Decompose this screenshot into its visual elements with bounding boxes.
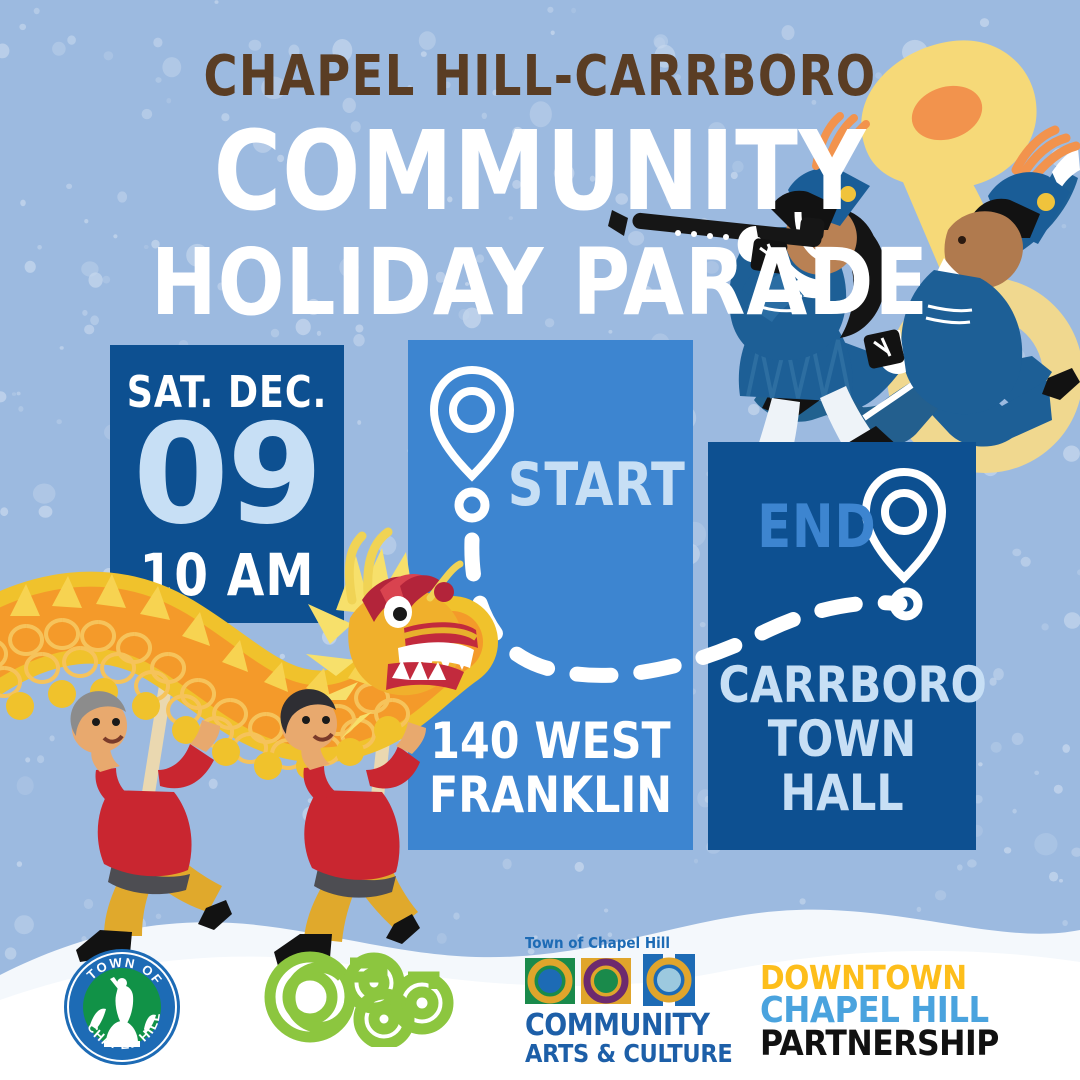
dragon-dancer [71, 691, 232, 962]
sponsor-logo-bar: TOWN OF CHAPEL HILL [0, 930, 1080, 1080]
logo-downtown-chapel-hill-partnership: DOWNTOWN CHAPEL HILL PARTNERSHIP [760, 962, 999, 1062]
logo-arts-tiles [525, 954, 697, 1006]
logo-community-arts-and-culture: Town of Chapel Hill COMMUNITY ARTS & CUL… [525, 936, 732, 1066]
logo-dchp-line3: PARTNERSHIP [760, 1028, 999, 1062]
logo-town-of-chapel-hill: TOWN OF CHAPEL HILL [62, 947, 182, 1072]
poster-headline-line1: COMMUNITY [38, 116, 1042, 226]
poster-headline-line2: HOLIDAY PARADE [27, 237, 1053, 329]
logo-arts-top-line: Town of Chapel Hill [525, 936, 732, 951]
logo-arts-line2: ARTS & CULTURE [525, 1041, 732, 1066]
poster-kicker: CHAPEL HILL-CARRBORO [43, 44, 1037, 109]
logo-arts-line1: COMMUNITY [525, 1011, 732, 1041]
poster-canvas: SAT. DEC. 09 10 AM START 140 WEST FRANKL… [0, 0, 1080, 1080]
logo-carrboro [262, 947, 467, 1052]
logo-dchp-line2: CHAPEL HILL [760, 994, 999, 1029]
